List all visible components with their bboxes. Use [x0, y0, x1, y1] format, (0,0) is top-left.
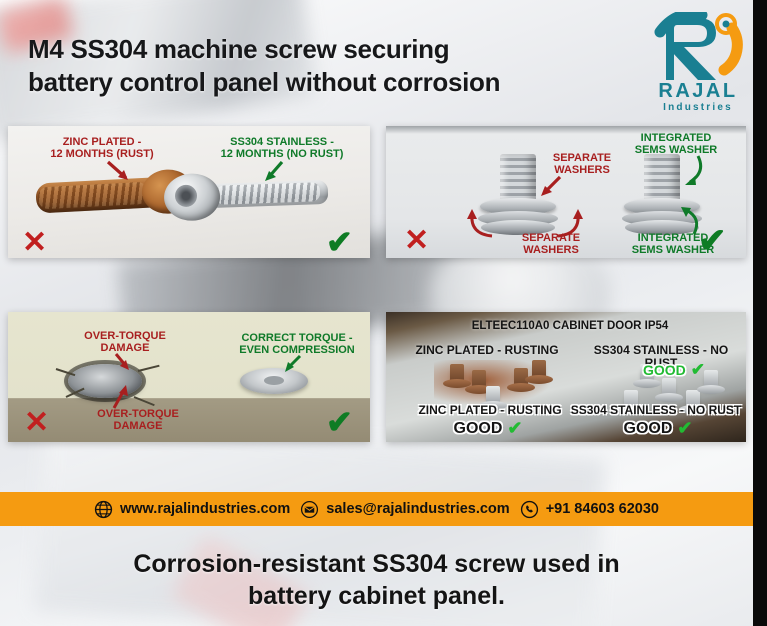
- label-cabinet-door-heading: ELTEEC110A0 CABINET DOOR IP54: [446, 320, 694, 333]
- arrow-red-down-icon: [104, 160, 134, 184]
- website-text: www.rajalindustries.com: [120, 501, 290, 517]
- caption-line2: battery cabinet panel.: [248, 580, 505, 613]
- phone-text: +91 84603 62030: [546, 501, 659, 517]
- page-title: M4 SS304 machine screw securing battery …: [28, 33, 628, 100]
- panel-torque-comparison: OVER-TORQUE DAMAGE OVER-TORQUE DAMAGE CO…: [8, 312, 370, 442]
- logo-name: RAJAL: [646, 80, 750, 103]
- contact-bar: www.rajalindustries.com sales@rajalindus…: [0, 492, 753, 526]
- poster-canvas: M4 SS304 machine screw securing battery …: [0, 0, 753, 626]
- brand-logo: RAJAL Industries: [646, 12, 750, 120]
- badge-good-bottom-right: GOOD ✔: [598, 418, 718, 439]
- bolt-shank: [500, 154, 536, 202]
- check-mark-icon: ✔: [677, 418, 692, 439]
- globe-icon: [94, 500, 113, 519]
- stainless-stud: [662, 378, 676, 396]
- arrow-green-down-icon: [280, 354, 306, 376]
- envelope-icon: [300, 500, 319, 519]
- x-mark-icon: ✕: [22, 228, 47, 258]
- arrow-red-down-left-icon: [534, 174, 566, 200]
- badge-good-bottom-left: GOOD ✔: [428, 418, 548, 439]
- arrow-green-down-icon: [260, 160, 290, 184]
- label-zinc-plated-rusting-bottom: ZINC PLATED - RUSTING: [400, 404, 580, 417]
- label-zinc-plated-rusting-top: ZINC PLATED - RUSTING: [402, 344, 572, 357]
- arrow-red-curve-left-icon: [464, 208, 498, 238]
- label-zinc-plated-rust: ZINC PLATED - 12 MONTHS (RUST): [32, 136, 172, 161]
- page-title-line1: M4 SS304 machine screw securing: [28, 34, 449, 64]
- caption-line1: Corrosion-resistant SS304 screw used in: [133, 548, 619, 581]
- contact-website[interactable]: www.rajalindustries.com: [94, 500, 290, 519]
- rusted-stud: [472, 370, 486, 388]
- label-over-torque-damage-bottom: OVER-TORQUE DAMAGE: [82, 408, 194, 433]
- rusted-stud: [532, 360, 546, 378]
- check-mark-icon: ✔: [698, 224, 727, 258]
- stainless-screw-illustration: [208, 180, 329, 208]
- arrow-green-curve-down-icon: [672, 154, 706, 188]
- check-mark-icon: ✔: [326, 406, 353, 438]
- stainless-stud: [486, 386, 500, 404]
- good-text: GOOD: [643, 362, 686, 378]
- label-ss304-no-rust-bottom: SS304 STAINLESS - NO RUST: [568, 404, 744, 417]
- logo-subtitle: Industries: [646, 102, 750, 113]
- contact-email[interactable]: sales@rajalindustries.com: [300, 500, 509, 519]
- phone-icon: [520, 500, 539, 519]
- torx-drive-icon: [175, 184, 198, 207]
- good-text: GOOD: [454, 420, 503, 438]
- panel-cabinet-door-comparison: ELTEEC110A0 CABINET DOOR IP54 ZINC PLATE…: [386, 312, 746, 442]
- page-title-line2: battery control panel without corrosion: [28, 66, 628, 99]
- arrow-red-up-icon: [106, 384, 132, 410]
- header: M4 SS304 machine screw securing battery …: [0, 0, 753, 122]
- panel-screw-corrosion-comparison: ZINC PLATED - 12 MONTHS (RUST) SS304 STA…: [8, 126, 370, 258]
- good-text: GOOD: [624, 420, 673, 438]
- rusted-stud: [450, 364, 464, 382]
- panel-washer-comparison: SEPARATE WASHERS SEPARATE WASHERS INTEGR…: [386, 126, 746, 258]
- check-mark-icon: ✔: [326, 226, 353, 258]
- check-mark-icon: ✔: [691, 360, 705, 380]
- contact-phone[interactable]: +91 84603 62030: [520, 500, 659, 519]
- x-mark-icon: ✕: [404, 226, 429, 256]
- email-text: sales@rajalindustries.com: [326, 501, 509, 517]
- check-mark-icon: ✔: [507, 418, 522, 439]
- badge-good-top-right: GOOD ✔: [614, 360, 734, 380]
- caption: Corrosion-resistant SS304 screw used in …: [0, 534, 753, 626]
- label-over-torque-damage-top: OVER-TORQUE DAMAGE: [70, 330, 180, 355]
- x-mark-icon: ✕: [24, 408, 49, 438]
- logo-r-mark-icon: [654, 12, 746, 84]
- right-border: [753, 0, 767, 626]
- arrow-red-down-icon: [112, 352, 136, 374]
- arrow-red-curve-right-icon: [552, 208, 586, 238]
- label-separate-washers-bottom: SEPARATE WASHERS: [496, 232, 606, 257]
- label-correct-torque: CORRECT TORQUE - EVEN COMPRESSION: [230, 332, 364, 357]
- label-integrated-sems-top: INTEGRATED SEMS WASHER: [614, 132, 738, 157]
- label-ss304-no-rust: SS304 STAINLESS - 12 MONTHS (NO RUST): [204, 136, 360, 161]
